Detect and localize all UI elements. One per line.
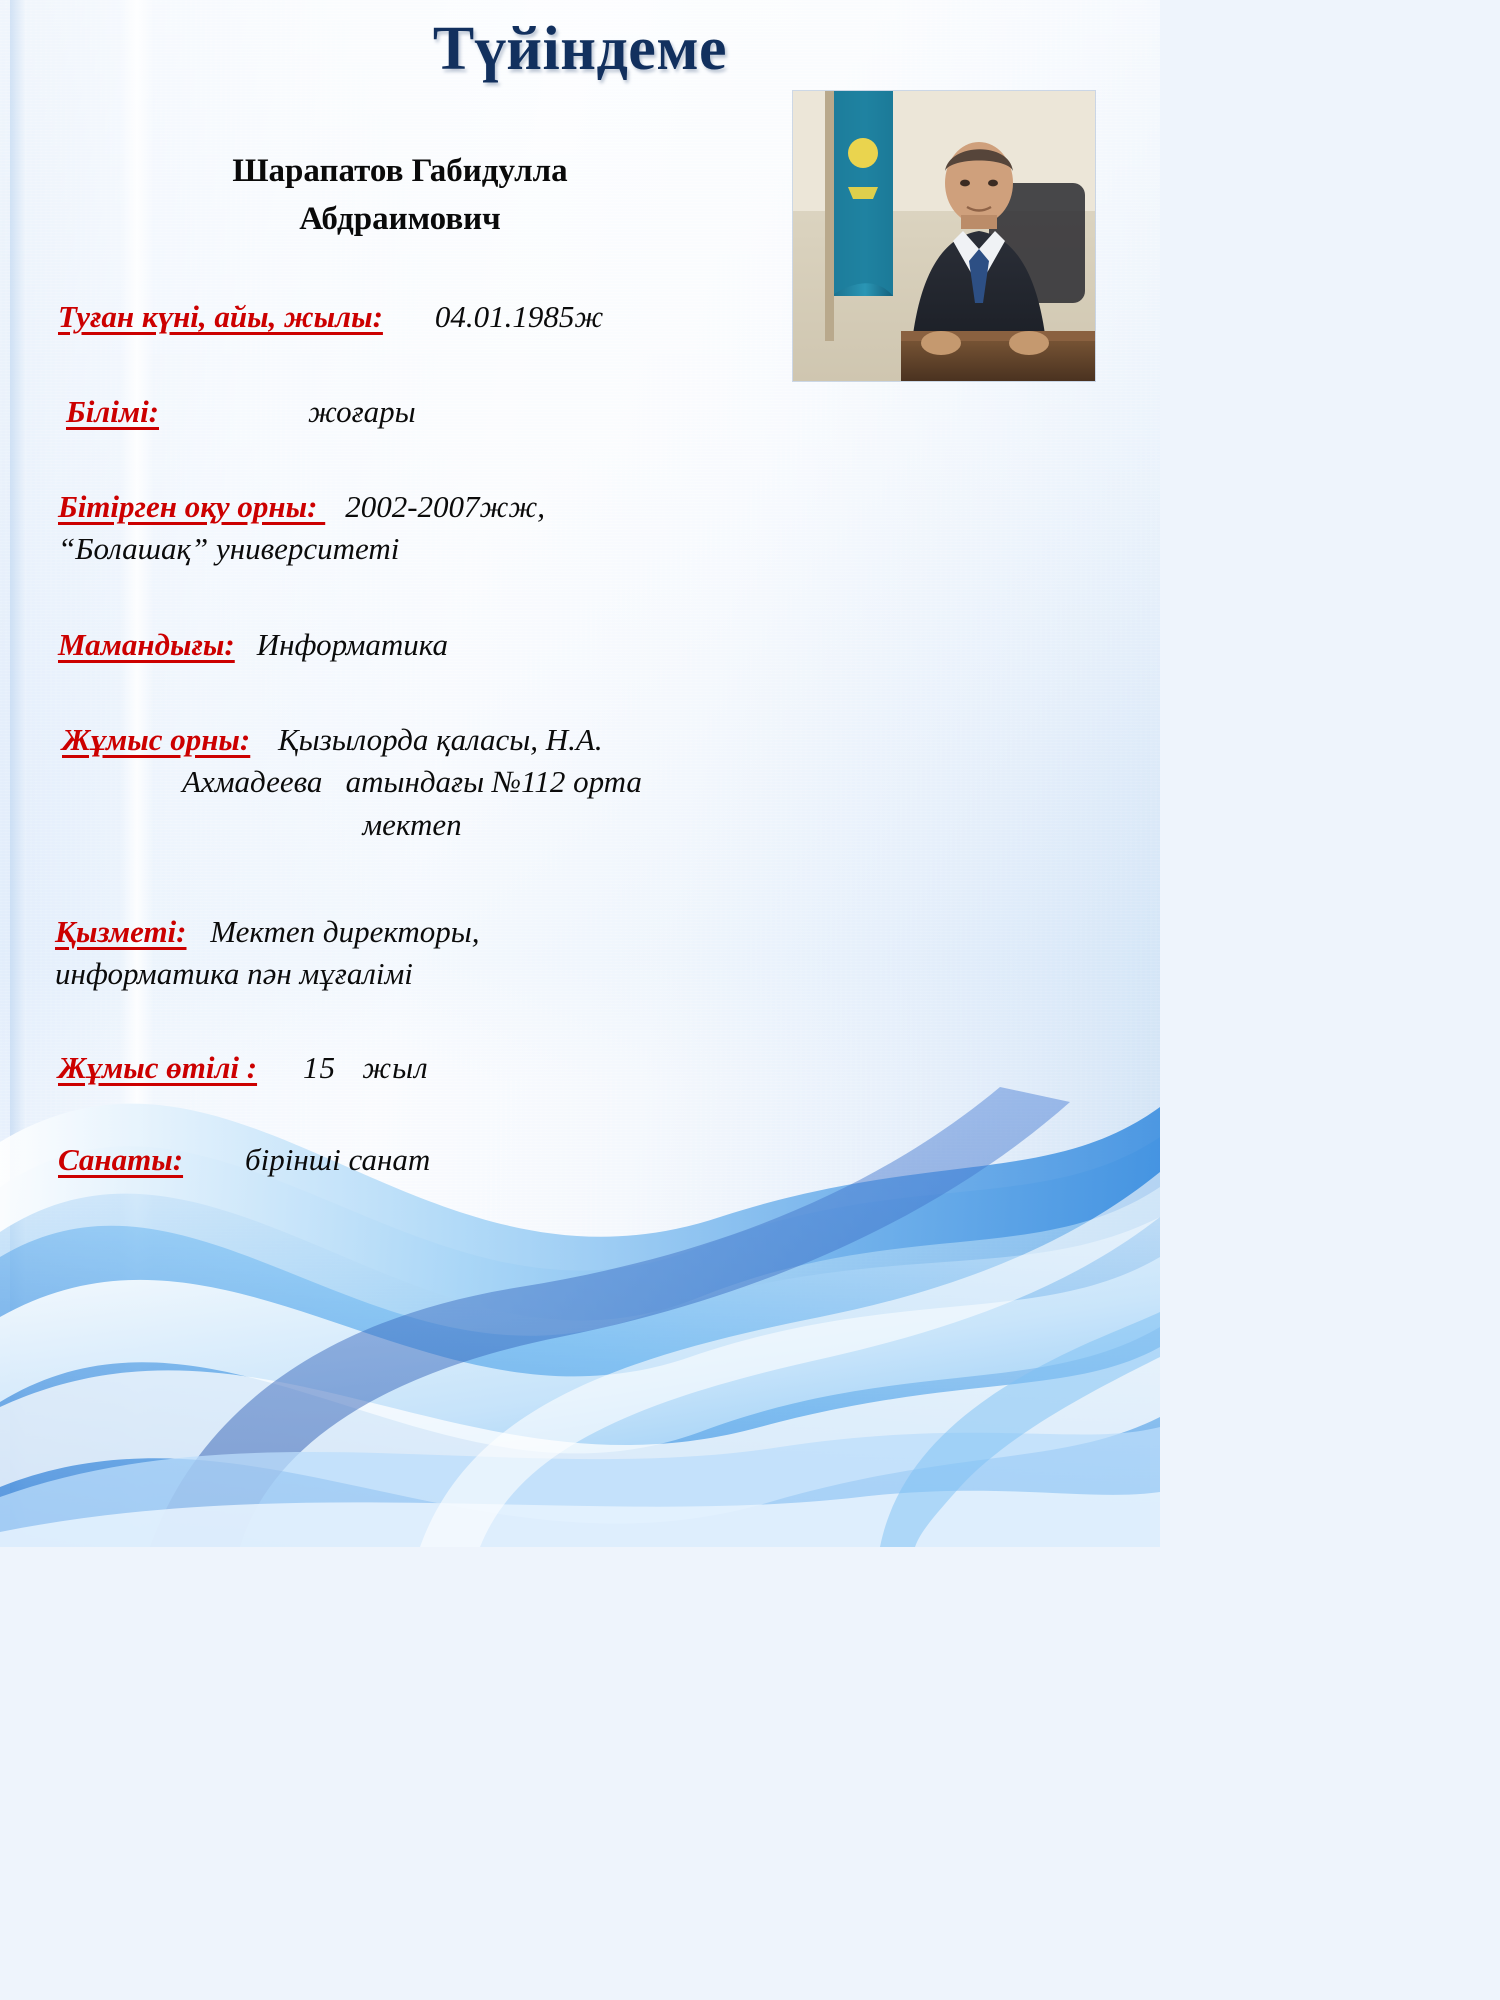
person-name-line-2: Абдраимович [100, 196, 700, 244]
resume-slide: Түйіндеме [0, 0, 1160, 1547]
field-specialty: Мамандығы: Информатика [58, 625, 1058, 665]
field-value-category: бірінші санат [245, 1140, 430, 1180]
field-work-experience: Жұмыс өтілі : 15 жыл [58, 1048, 1058, 1088]
field-value-education-level: жоғары [308, 392, 416, 432]
field-value-specialty: Информатика [257, 625, 448, 665]
field-label-specialty: Мамандығы: [58, 625, 235, 665]
field-label-category: Санаты: [58, 1140, 183, 1180]
field-value-workplace: Қызылорда қаласы, Н.А. [278, 722, 603, 757]
field-date-of-birth: Туған күні, айы, жылы: 04.01.1985ж [58, 297, 1058, 337]
field-label-position: Қызметі: [55, 914, 187, 949]
field-value-position-line-2: информатика пән мұғалімі [55, 954, 1055, 994]
field-category: Санаты: бірінші санат [58, 1140, 1058, 1180]
field-value-workplace-line-3: мектеп [62, 805, 762, 845]
field-label-work-experience: Жұмыс өтілі : [58, 1048, 257, 1088]
page-title: Түйіндеме [0, 14, 1160, 85]
portrait-photo [793, 91, 1095, 381]
field-label-date-of-birth: Туған күні, айы, жылы: [58, 297, 383, 337]
field-label-education-level: Білімі: [66, 392, 159, 432]
field-graduated-institution: Бітірген оқу орны: 2002-2007жж, “Болашақ… [58, 487, 1068, 570]
person-name: Шарапатов Габидулла Абдраимович [100, 148, 700, 244]
field-value-position: Мектеп директоры, [210, 914, 479, 949]
field-value-date-of-birth: 04.01.1985ж [435, 297, 603, 337]
field-label-workplace: Жұмыс орны: [62, 722, 250, 757]
field-value-graduated-institution-line-2: “Болашақ” университеті [58, 529, 1068, 569]
field-education-level: Білімі: жоғары [66, 392, 1066, 432]
field-value-workplace-line-2: Ахмадеева атындағы №112 орта [62, 762, 762, 802]
field-label-graduated-institution: Бітірген оқу орны: [58, 489, 325, 524]
field-value-graduated-institution: 2002-2007жж, [345, 489, 545, 524]
field-workplace: Жұмыс орны: Қызылорда қаласы, Н.А. Ахмад… [62, 720, 1062, 845]
field-position: Қызметі: Мектеп директоры, информатика п… [55, 912, 1055, 995]
field-value-work-experience: 15 жыл [303, 1048, 429, 1088]
person-name-line-1: Шарапатов Габидулла [100, 148, 700, 196]
